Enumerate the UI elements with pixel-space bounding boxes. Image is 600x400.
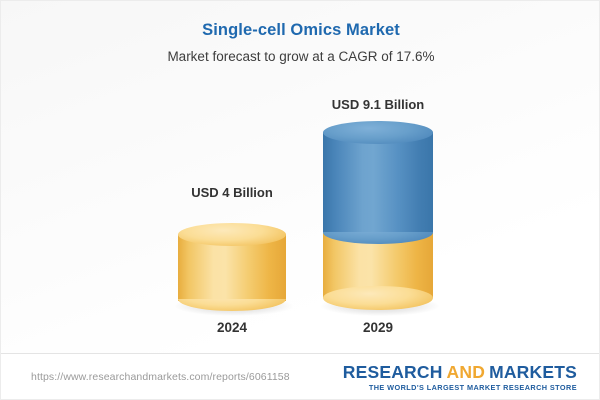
bar-group-2029: USD 9.1 Billion 2029 (313, 93, 443, 341)
chart-footer: https://www.researchandmarkets.com/repor… (1, 353, 600, 400)
source-url[interactable]: https://www.researchandmarkets.com/repor… (31, 371, 290, 383)
bar-group-2024: USD 4 Billion 2024 (169, 181, 295, 341)
logo-word-and: AND (443, 362, 490, 382)
logo-wordmark: RESEARCHANDMARKETS (343, 363, 577, 381)
bar-body-blue-upper-2029 (323, 132, 433, 232)
logo-tagline: THE WORLD'S LARGEST MARKET RESEARCH STOR… (343, 381, 577, 392)
chart-card: Single-cell Omics Market Market forecast… (0, 0, 600, 400)
chart-plot-area: USD 4 Billion 2024 USD 9.1 Billion (1, 1, 600, 353)
bar-bottom-ellipse-2029 (323, 286, 433, 310)
bar-value-label-2024: USD 4 Billion (169, 185, 295, 200)
bar-top-ellipse-2029 (323, 121, 433, 144)
bar-segment-gold-2029 (313, 233, 443, 319)
bar-segment-blue-2029 (313, 121, 443, 245)
bar-year-label-2024: 2024 (169, 320, 295, 335)
logo-word-markets: MARKETS (489, 362, 577, 382)
research-and-markets-logo[interactable]: RESEARCHANDMARKETS THE WORLD'S LARGEST M… (343, 363, 577, 392)
bar-year-label-2029: 2029 (313, 320, 443, 335)
bar-cylinder-2024 (169, 223, 295, 309)
bar-top-ellipse-2024 (178, 223, 286, 246)
bar-value-label-2029: USD 9.1 Billion (313, 97, 443, 112)
logo-word-research: RESEARCH (343, 362, 443, 382)
